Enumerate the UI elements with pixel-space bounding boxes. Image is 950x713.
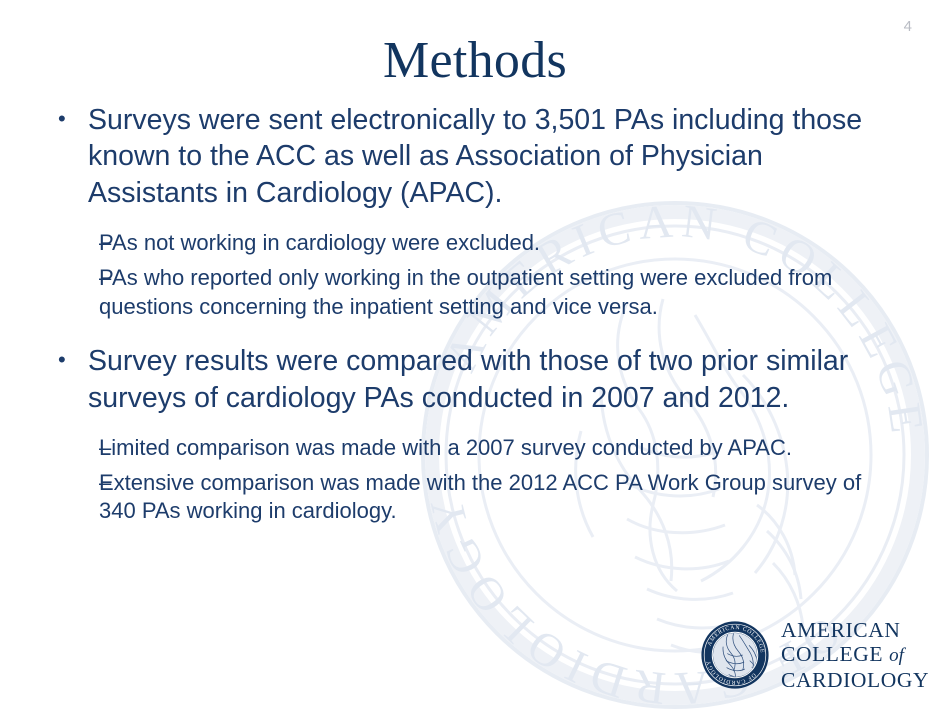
acc-logo: AMERICAN COLLEGE OF CARDIOLOGY [700, 617, 932, 693]
bullet-marker-dash: – [44, 264, 99, 293]
logo-line-cardiology: CARDIOLOGY [781, 668, 929, 693]
slide-number: 4 [904, 18, 912, 35]
logo-line-american: AMERICAN [781, 618, 929, 643]
logo-line-college-of: COLLEGE of [781, 642, 929, 667]
bullet-text: Survey results were compared with those … [88, 343, 888, 416]
bullet-marker-dot: • [44, 102, 88, 136]
bullet-level1: • Surveys were sent electronically to 3,… [44, 102, 924, 211]
bullet-level1: • Survey results were compared with thos… [44, 343, 924, 416]
bullet-text: PAs who reported only working in the out… [99, 264, 889, 321]
bullet-marker-dash: – [44, 434, 99, 463]
slide-canvas: AMERICAN COLLEGE OF CARDIOLOGY [0, 0, 950, 713]
acc-seal-icon: AMERICAN COLLEGE OF CARDIOLOGY [700, 620, 770, 690]
bullet-marker-dash: – [44, 469, 99, 498]
logo-word-college: COLLEGE [781, 642, 883, 666]
bullet-marker-dash: – [44, 229, 99, 258]
bullet-level2: – Limited comparison was made with a 200… [44, 434, 924, 463]
bullet-level2: – PAs who reported only working in the o… [44, 264, 924, 321]
bullet-level2: – PAs not working in cardiology were exc… [44, 229, 924, 258]
bullet-text: Surveys were sent electronically to 3,50… [88, 102, 888, 211]
acc-logo-wordmark: AMERICAN COLLEGE of CARDIOLOGY [781, 618, 929, 693]
slide-body: • Surveys were sent electronically to 3,… [44, 102, 924, 526]
bullet-text: PAs not working in cardiology were exclu… [99, 229, 889, 258]
page-title: Methods [0, 34, 950, 89]
bullet-text: Extensive comparison was made with the 2… [99, 469, 889, 526]
logo-word-of: of [889, 645, 904, 666]
bullet-marker-dot: • [44, 343, 88, 377]
bullet-level2: – Extensive comparison was made with the… [44, 469, 924, 526]
bullet-text: Limited comparison was made with a 2007 … [99, 434, 889, 463]
